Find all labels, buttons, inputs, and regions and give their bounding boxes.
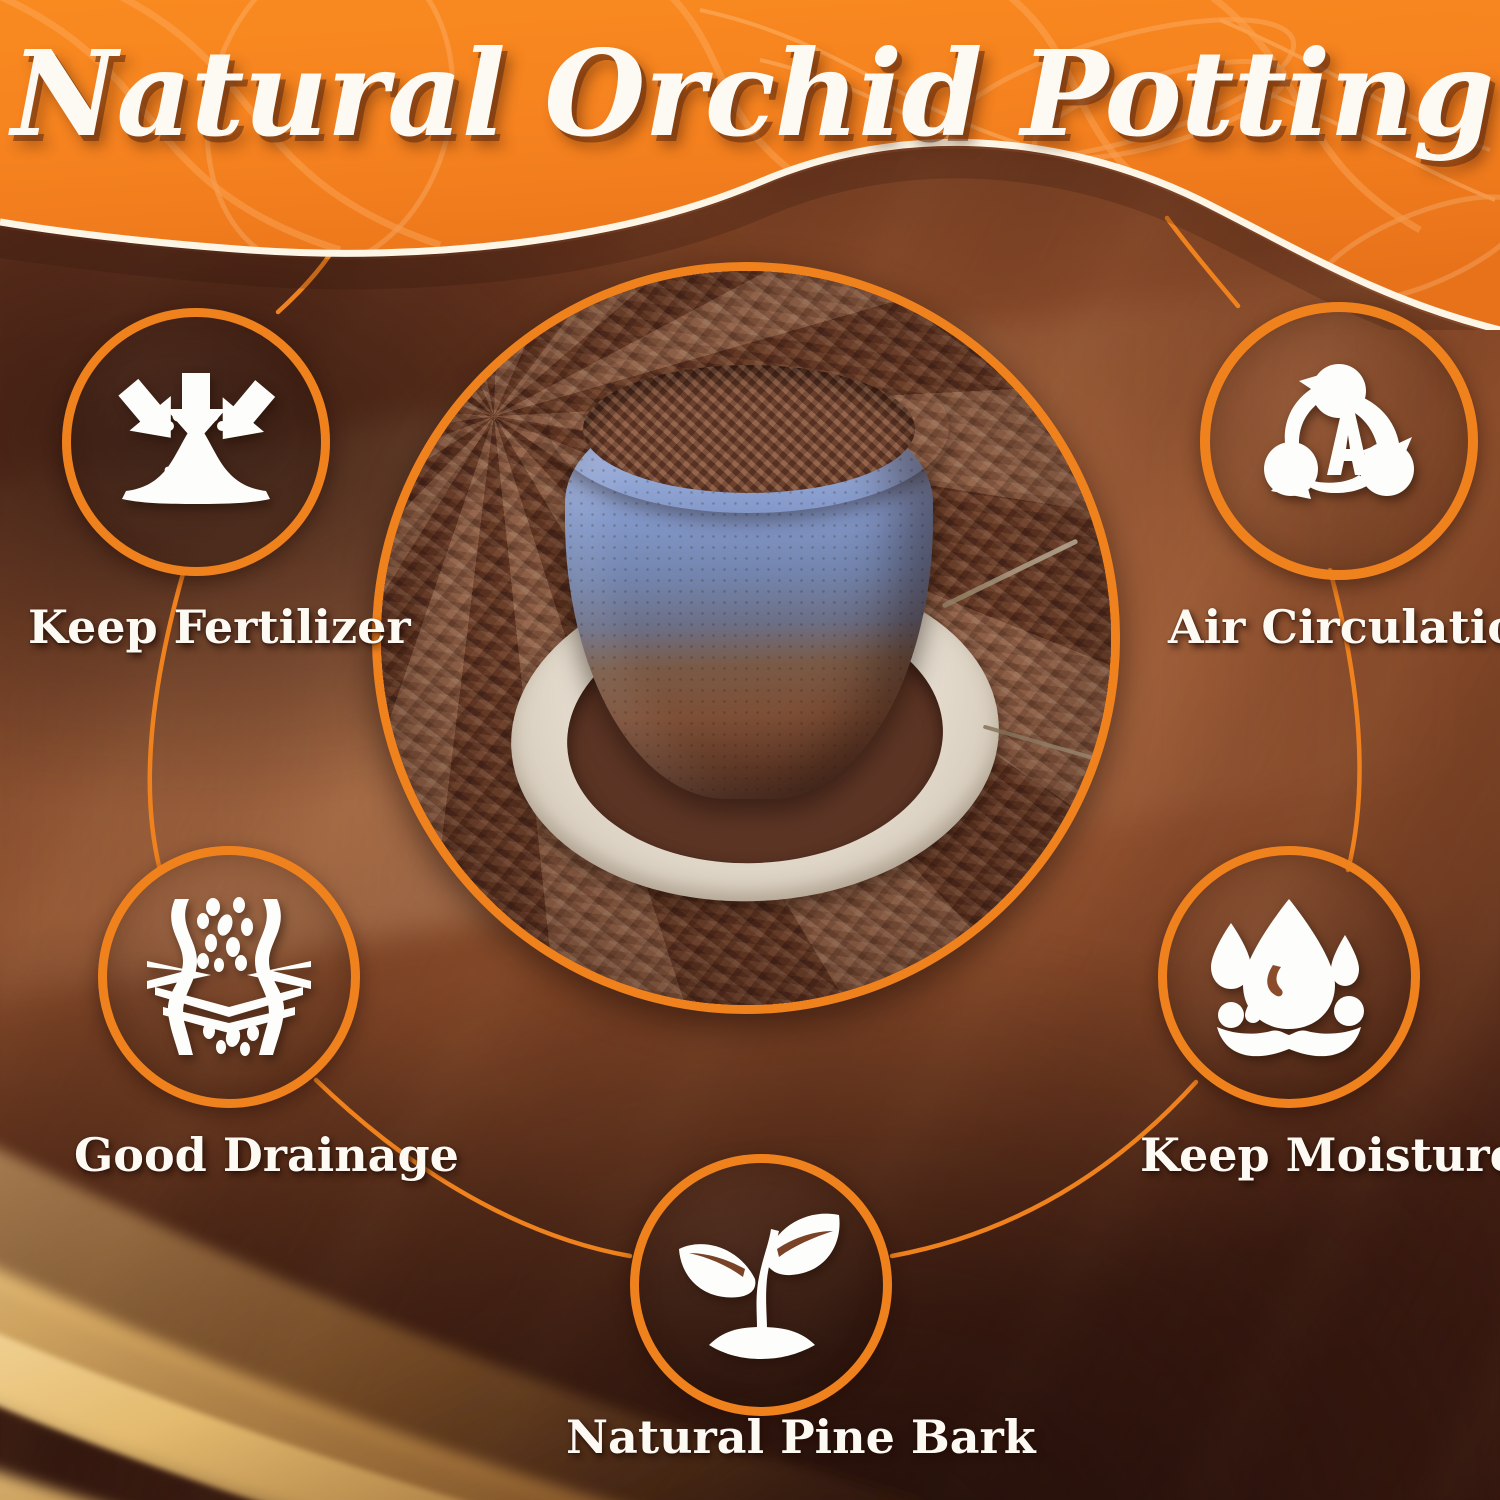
seedling-sprout-icon xyxy=(630,1154,892,1416)
arrows-into-mound-icon xyxy=(62,308,330,576)
water-droplet-icon xyxy=(1158,846,1420,1108)
feature-natural-pine-bark[interactable] xyxy=(630,1154,892,1416)
feature-keep-moisture[interactable] xyxy=(1158,846,1420,1108)
feature-keep-fertilizer[interactable] xyxy=(62,308,330,576)
feature-label-keep-fertilizer: Keep Fertilizer xyxy=(28,600,411,654)
feature-label-air-circulation: Air Circulation xyxy=(1168,600,1500,654)
product-infographic: Natural Orchid Potting Bark xyxy=(0,0,1500,1500)
air-circulation-icon xyxy=(1200,302,1478,580)
feature-air-circulation[interactable] xyxy=(1200,302,1478,580)
feature-label-natural-pine-bark: Natural Pine Bark xyxy=(566,1410,1036,1464)
feature-good-drainage[interactable] xyxy=(98,846,360,1108)
water-through-soil-icon xyxy=(98,846,360,1108)
page-title: Natural Orchid Potting Bark xyxy=(11,34,1489,154)
feature-label-good-drainage: Good Drainage xyxy=(74,1128,459,1182)
header-banner: Natural Orchid Potting Bark xyxy=(0,0,1500,330)
feature-label-keep-moisture: Keep Moisture xyxy=(1140,1128,1500,1182)
